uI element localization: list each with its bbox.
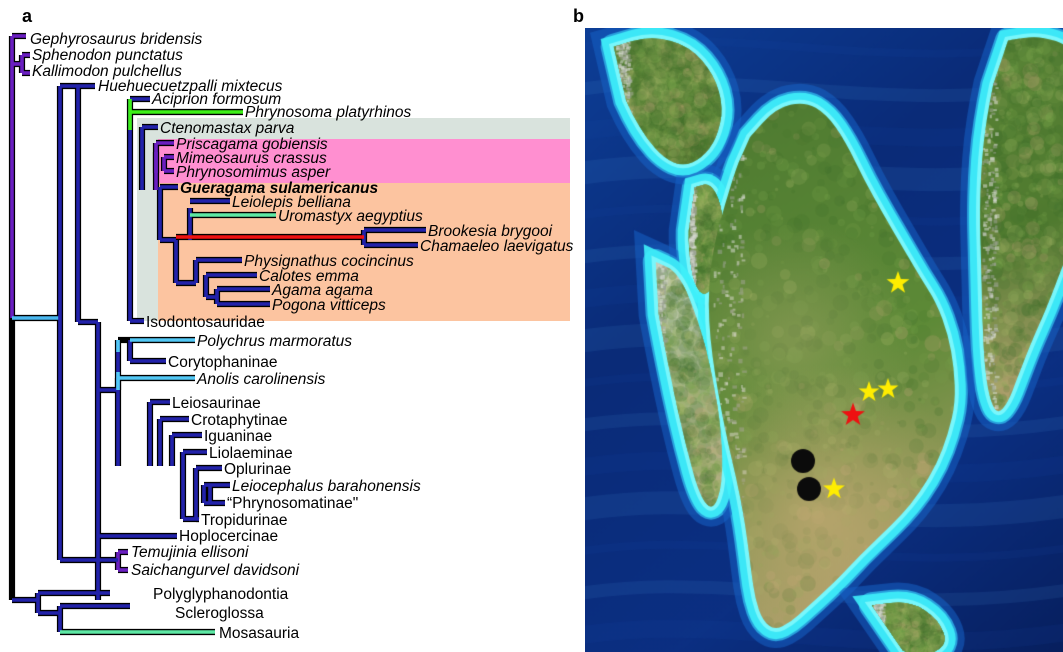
- taxon-label-19: Isodontosauridae: [146, 315, 265, 330]
- taxon-label-33: Saichangurvel davidsoni: [131, 563, 299, 578]
- taxon-label-35: Scleroglossa: [175, 606, 264, 621]
- taxon-label-36: Mosasauria: [219, 626, 299, 641]
- taxon-label-18: Pogona vitticeps: [272, 298, 386, 313]
- map-raster: [585, 28, 1063, 652]
- taxon-label-27: Oplurinae: [224, 462, 291, 477]
- taxon-label-25: Iguaninae: [204, 429, 272, 444]
- taxon-label-2: Kallimodon pulchellus: [32, 64, 182, 79]
- paleogeographic-map: [585, 28, 1063, 652]
- taxon-label-14: Chamaeleo laevigatus: [420, 239, 573, 254]
- taxon-label-29: “Phrynosomatinae": [227, 496, 358, 511]
- taxon-label-0: Gephyrosaurus bridensis: [30, 32, 202, 47]
- taxon-label-23: Leiosaurinae: [172, 396, 261, 411]
- taxon-label-31: Hoplocercinae: [179, 529, 278, 544]
- taxon-label-13: Brookesia brygooi: [428, 224, 552, 239]
- taxon-label-22: Anolis carolinensis: [197, 372, 325, 387]
- taxon-label-15: Physignathus cocincinus: [244, 254, 414, 269]
- taxon-label-1: Sphenodon punctatus: [32, 48, 183, 63]
- taxon-label-20: Polychrus marmoratus: [197, 334, 352, 349]
- taxon-label-24: Crotaphytinae: [191, 413, 288, 428]
- taxon-label-5: Phrynosoma platyrhinos: [245, 105, 411, 120]
- taxon-label-9: Phrynosomimus asper: [176, 165, 330, 180]
- taxon-label-28: Leiocephalus barahonensis: [232, 479, 421, 494]
- panel-b-label: b: [573, 6, 584, 27]
- taxon-label-34: Polyglyphanodontia: [153, 587, 288, 602]
- taxon-label-21: Corytophaninae: [168, 355, 277, 370]
- taxon-label-6: Ctenomastax parva: [160, 121, 294, 136]
- taxon-label-17: Agama agama: [272, 283, 373, 298]
- tree-branches: [0, 0, 580, 652]
- taxon-label-32: Temujinia ellisoni: [131, 545, 248, 560]
- taxon-label-26: Liolaeminae: [209, 446, 293, 461]
- taxon-label-30: Tropidurinae: [201, 513, 287, 528]
- taxon-label-12: Uromastyx aegyptius: [278, 209, 423, 224]
- panel-a-phylogeny: a: [0, 0, 580, 652]
